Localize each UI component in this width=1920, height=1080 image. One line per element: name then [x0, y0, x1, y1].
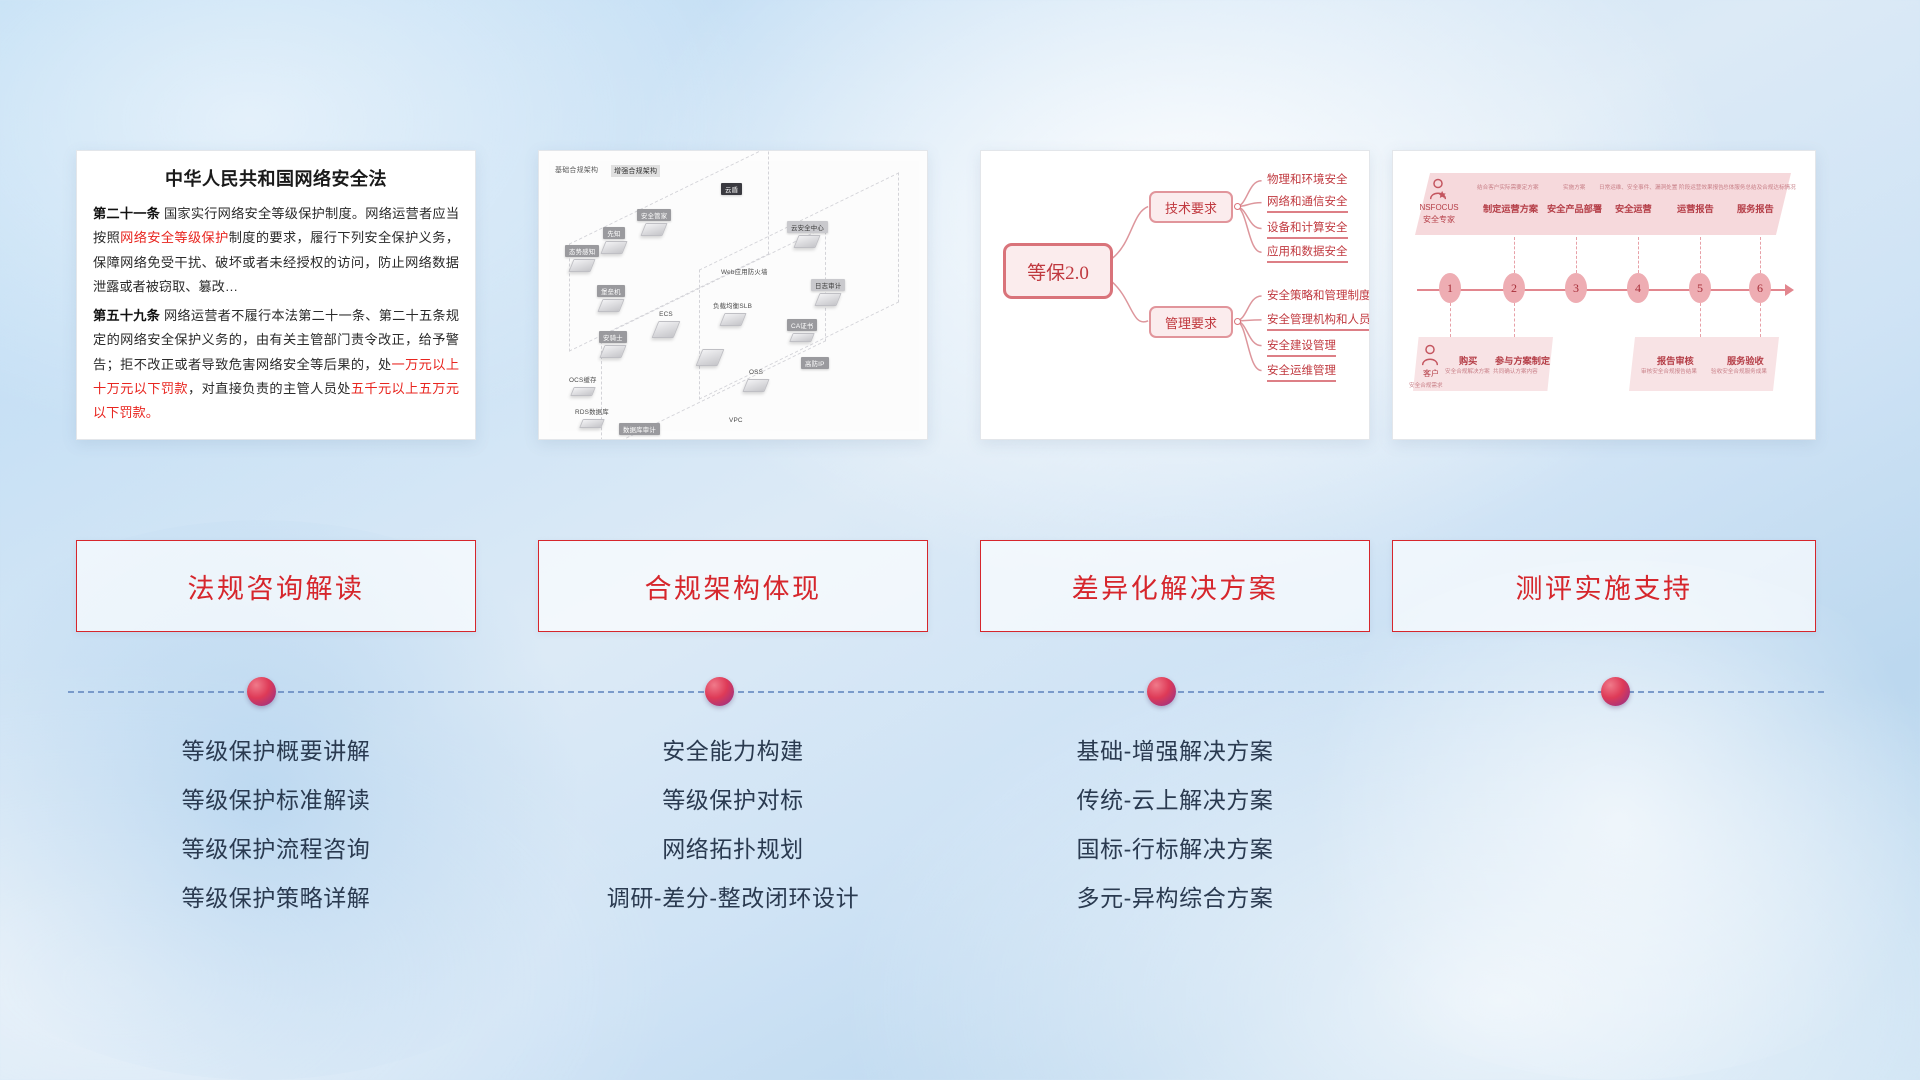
title-label-2: 合规架构体现 [645, 567, 822, 606]
timeline-bottom-sub-6: 验收安全合规服务成果 [1711, 367, 1767, 375]
cube-icon [597, 299, 624, 312]
tab-enhanced-architecture[interactable]: 增强合规架构 [611, 165, 660, 177]
card-mindmap: 等保2.0 技术要求 物理和环境安全 网络和通信安全 设备和计算安全 应用和数据… [980, 150, 1370, 440]
node-vpc: VPC [725, 415, 747, 425]
card-architecture-diagram: 基础合规架构 增强合规架构 云盾 安全管家 先知 [538, 150, 928, 440]
timeline-sub-6: 总体服务总结及合规达标情况 [1723, 183, 1796, 191]
timeline-bottom-caption-2: 参与方案制定 [1495, 353, 1550, 367]
mindmap-branch-management[interactable]: 管理要求 [1149, 306, 1233, 338]
architecture-canvas: 基础合规架构 增强合规架构 云盾 安全管家 先知 [539, 151, 927, 439]
node-anqishi: 安骑士 [599, 331, 627, 358]
mindmap-leaf-security-operation-management[interactable]: 安全运维管理 [1267, 364, 1336, 382]
timeline-caption-3: 安全产品部署 [1547, 201, 1602, 215]
mindmap-collapse-dot-technical[interactable] [1234, 203, 1241, 210]
timeline-stem-3 [1576, 237, 1577, 273]
mindmap-leaf-security-management-org-personnel[interactable]: 安全管理机构和人员 [1267, 313, 1370, 331]
timeline-node-1[interactable]: 1 [1439, 273, 1461, 303]
timeline-caption-5: 运营报告 [1677, 201, 1714, 215]
node-log-audit: 日志审计 [811, 279, 845, 306]
list-item: 安全能力构建 [538, 740, 928, 763]
list-item: 传统-云上解决方案 [980, 789, 1370, 812]
dashed-rail [68, 691, 1824, 693]
rail-dot-4[interactable] [1601, 677, 1630, 706]
title-box-compliance-architecture[interactable]: 合规架构体现 [538, 540, 928, 632]
list-item: 等级保护策略详解 [76, 887, 476, 910]
cube-icon [641, 223, 668, 236]
node-oss: OSS [745, 367, 767, 392]
mindmap-root-node[interactable]: 等保2.0 [1003, 243, 1113, 299]
title-box-assessment-support[interactable]: 测评实施支持 [1392, 540, 1816, 632]
node-security-butler: 安全管家 [637, 209, 671, 236]
law-article-59: 第五十九条 网络运营者不履行本法第二十一条、第二十五条规定的网络安全保护义务的，… [93, 304, 459, 426]
cube-icon [815, 293, 842, 306]
rail-dot-3[interactable] [1147, 677, 1176, 706]
node-waf: Web应用防火墙 [717, 265, 772, 277]
list-item: 调研-差分-整改闭环设计 [538, 887, 928, 910]
mindmap-leaf-network-communication-security[interactable]: 网络和通信安全 [1267, 195, 1348, 213]
timeline-stem-down-2 [1514, 303, 1515, 337]
list-item: 国标-行标解决方案 [980, 838, 1370, 861]
expert-name: NSFOCUS [1415, 203, 1463, 213]
architecture-surface: 基础合规架构 增强合规架构 云盾 安全管家 先知 [549, 161, 919, 431]
law-article-21: 第二十一条 国家实行网络安全等级保护制度。网络运营者应当按照网络安全等级保护制度… [93, 202, 459, 300]
title-box-differentiated-solution[interactable]: 差异化解决方案 [980, 540, 1370, 632]
timeline-arrow-icon [1785, 284, 1794, 296]
list-item: 基础-增强解决方案 [980, 740, 1370, 763]
timeline-bottom-caption-5: 报告审核 [1657, 353, 1694, 367]
mindmap-leaf-physical-environment-security[interactable]: 物理和环境安全 [1267, 173, 1348, 189]
cube-icon [696, 349, 725, 366]
expert-avatar-icon [1427, 177, 1449, 201]
article-21-highlight: 网络安全等级保护 [120, 230, 229, 245]
mindmap-leaf-security-policy-management-system[interactable]: 安全策略和管理制度 [1267, 289, 1370, 305]
timeline-bottom-sub-5: 审核安全合规报告结果 [1641, 367, 1697, 375]
timeline-node-3[interactable]: 3 [1565, 273, 1587, 303]
expert-role: 安全专家 [1415, 215, 1463, 225]
timeline-node-2[interactable]: 2 [1503, 273, 1525, 303]
timeline-stem-6 [1760, 237, 1761, 273]
timeline-bottom-sub-2: 共同确认方案内容 [1493, 367, 1538, 375]
article-59-label: 第五十九条 [93, 308, 160, 323]
node-ecs: ECS [655, 309, 677, 338]
timeline-rail-row [0, 672, 1920, 712]
timeline-stem-down-6 [1760, 303, 1761, 337]
mindmap-collapse-dot-management[interactable] [1234, 318, 1241, 325]
law-content: 中华人民共和国网络安全法 第二十一条 国家实行网络安全等级保护制度。网络运营者应… [77, 151, 475, 436]
timeline-stem-2 [1514, 237, 1515, 273]
card-row: 中华人民共和国网络安全法 第二十一条 国家实行网络安全等级保护制度。网络运营者应… [0, 0, 1920, 440]
timeline-stem-4 [1638, 237, 1639, 273]
timeline-sub-5: 阶段运营效果报告 [1679, 183, 1724, 191]
node-anti-ddos-ip: 高防IP [801, 357, 829, 369]
list-item: 等级保护对标 [538, 789, 928, 812]
timeline-canvas: NSFOCUS 安全专家 1 2 3 4 5 6 结合客户实际需要定方案 [1393, 151, 1815, 439]
bullet-column-2: 安全能力构建 等级保护对标 网络拓扑规划 调研-差分-整改闭环设计 [538, 740, 928, 936]
timeline-bottom-sub-1: 安全合规解决方案 [1445, 367, 1490, 375]
node-xianzhi: 先知 [603, 227, 625, 254]
mindmap-canvas: 等保2.0 技术要求 物理和环境安全 网络和通信安全 设备和计算安全 应用和数据… [981, 151, 1369, 439]
article-21-label: 第二十一条 [93, 206, 160, 221]
title-box-row: 法规咨询解读 合规架构体现 差异化解决方案 测评实施支持 [0, 540, 1920, 635]
node-rds-database: RDS数据库 [571, 405, 613, 428]
title-label-4: 测评实施支持 [1516, 567, 1693, 606]
card-law-text: 中华人民共和国网络安全法 第二十一条 国家实行网络安全等级保护制度。网络运营者应… [76, 150, 476, 440]
node-ocs-cache: OCS缓存 [565, 373, 601, 396]
node-database-audit: 数据库审计 [619, 423, 660, 435]
timeline-sub-2: 结合客户实际需要定方案 [1477, 183, 1539, 191]
list-item: 网络拓扑规划 [538, 838, 928, 861]
node-situational-awareness: 态势感知 [565, 245, 599, 272]
mindmap-branch-technical[interactable]: 技术要求 [1149, 191, 1233, 223]
timeline-caption-6: 服务报告 [1737, 201, 1774, 215]
timeline-stem-down-1 [1450, 303, 1451, 337]
customer-role-sub: 安全合规需求 [1409, 381, 1443, 389]
node-bastion-host: 堡垒机 [597, 285, 625, 312]
list-item: 多元-异构综合方案 [980, 887, 1370, 910]
timeline-stem-down-5 [1700, 303, 1701, 337]
node-vpc-group [699, 347, 721, 366]
cube-icon [794, 235, 821, 248]
customer-avatar-icon [1419, 343, 1441, 367]
tab-basic-architecture[interactable]: 基础合规架构 [555, 165, 598, 175]
rail-dot-1[interactable] [247, 677, 276, 706]
cube-icon [742, 379, 769, 392]
timeline-bottom-caption-6: 服务验收 [1727, 353, 1764, 367]
cube-icon [789, 333, 815, 342]
mindmap-leaf-application-data-security[interactable]: 应用和数据安全 [1267, 245, 1348, 263]
cube-icon [599, 345, 626, 358]
cube-icon [652, 321, 681, 338]
card-service-timeline: NSFOCUS 安全专家 1 2 3 4 5 6 结合客户实际需要定方案 [1392, 150, 1816, 440]
cube-icon [579, 419, 605, 428]
cube-icon [719, 313, 746, 326]
timeline-bottom-caption-1: 购买 [1459, 353, 1477, 367]
title-label-3: 差异化解决方案 [1072, 567, 1279, 606]
node-cloud-security-center: 云安全中心 [787, 221, 828, 248]
cube-icon [600, 241, 627, 254]
node-cloud-shield: 云盾 [721, 183, 742, 195]
mindmap-leaf-device-computing-security[interactable]: 设备和计算安全 [1267, 221, 1348, 239]
timeline-node-5[interactable]: 5 [1689, 273, 1711, 303]
timeline-node-4[interactable]: 4 [1627, 273, 1649, 303]
list-item: 等级保护标准解读 [76, 789, 476, 812]
node-slb: 负载均衡SLB [709, 299, 756, 326]
timeline-stem-5 [1700, 237, 1701, 273]
bullet-column-3: 基础-增强解决方案 传统-云上解决方案 国标-行标解决方案 多元-异构综合方案 [980, 740, 1370, 936]
title-label-1: 法规咨询解读 [188, 567, 365, 606]
timeline-axis [1417, 289, 1789, 291]
timeline-sub-4: 日常运维、安全事件、漏洞处置 [1599, 183, 1677, 191]
article-59-text-b: ，对直接负责的主管人员处 [188, 381, 351, 396]
cube-icon [569, 259, 596, 272]
bullet-column-row: 等级保护概要讲解 等级保护标准解读 等级保护流程咨询 等级保护策略详解 安全能力… [0, 740, 1920, 960]
mindmap-leaf-security-construction-management[interactable]: 安全建设管理 [1267, 339, 1336, 357]
timeline-caption-4: 安全运营 [1615, 201, 1652, 215]
law-title: 中华人民共和国网络安全法 [93, 165, 459, 191]
timeline-node-6[interactable]: 6 [1749, 273, 1771, 303]
timeline-sub-3: 实施方案 [1563, 183, 1585, 191]
node-ca-certificate: CA证书 [787, 319, 817, 342]
list-item: 等级保护概要讲解 [76, 740, 476, 763]
bullet-column-1: 等级保护概要讲解 等级保护标准解读 等级保护流程咨询 等级保护策略详解 [76, 740, 476, 936]
timeline-caption-2: 制定运营方案 [1483, 201, 1538, 215]
list-item: 等级保护流程咨询 [76, 838, 476, 861]
title-box-regulation-consulting[interactable]: 法规咨询解读 [76, 540, 476, 632]
cube-icon [570, 387, 596, 396]
rail-dot-2[interactable] [705, 677, 734, 706]
